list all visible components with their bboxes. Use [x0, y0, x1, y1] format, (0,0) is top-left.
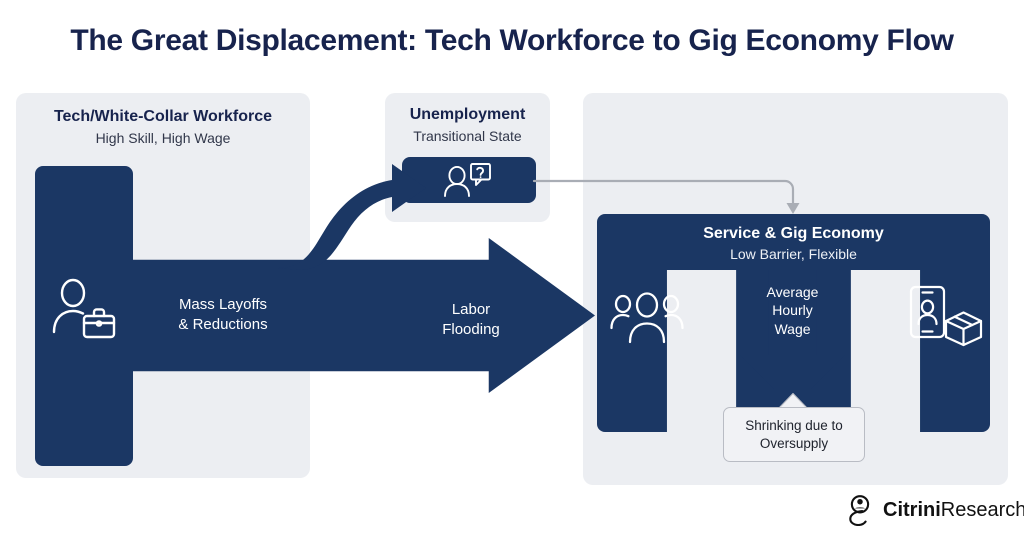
logo-text-bold: Citrini	[883, 499, 941, 521]
unemployment-branch-arrow	[250, 150, 430, 280]
logo-text: CitriniResearch	[883, 499, 1024, 522]
labor-flooding-line-1: Labor	[424, 300, 518, 320]
callout-line-1: Shrinking due to	[745, 417, 843, 435]
page-title: The Great Displacement: Tech Workforce t…	[0, 24, 1024, 58]
logo-text-regular: Research	[941, 499, 1024, 521]
labor-flooding-line-2: Flooding	[424, 320, 518, 340]
panel-tech-workforce-subtitle: High Skill, High Wage	[16, 130, 310, 146]
group-of-people-icon	[610, 288, 684, 344]
panel-tech-workforce-title: Tech/White-Collar Workforce	[16, 108, 310, 126]
person-question-icon	[442, 162, 496, 198]
panel-unemployment-subtitle: Transitional State	[385, 128, 550, 144]
mass-layoffs-label: Mass Layoffs & Reductions	[163, 295, 283, 336]
person-briefcase-icon	[48, 276, 120, 348]
mass-layoffs-line-1: Mass Layoffs	[163, 295, 283, 315]
panel-unemployment-title: Unemployment	[385, 106, 550, 124]
phone-package-icon	[908, 285, 984, 347]
diagram-canvas: The Great Displacement: Tech Workforce t…	[0, 0, 1024, 541]
wage-line-1: Average	[740, 283, 845, 301]
wage-line-3: Wage	[740, 320, 845, 338]
wage-line-2: Hourly	[740, 301, 845, 319]
service-gig-economy-subtitle: Low Barrier, Flexible	[597, 246, 990, 262]
unemployment-to-gig-connector	[530, 170, 810, 220]
average-hourly-wage-label: Average Hourly Wage	[740, 283, 845, 338]
citrini-logo-mark-icon	[845, 494, 875, 526]
shrinking-oversupply-callout: Shrinking due to Oversupply	[723, 407, 865, 462]
mass-layoffs-line-2: & Reductions	[163, 315, 283, 335]
service-gig-economy-title: Service & Gig Economy	[597, 225, 990, 243]
callout-line-2: Oversupply	[745, 435, 843, 453]
labor-flooding-label: Labor Flooding	[424, 300, 518, 341]
citrini-research-logo: CitriniResearch	[845, 492, 1024, 528]
